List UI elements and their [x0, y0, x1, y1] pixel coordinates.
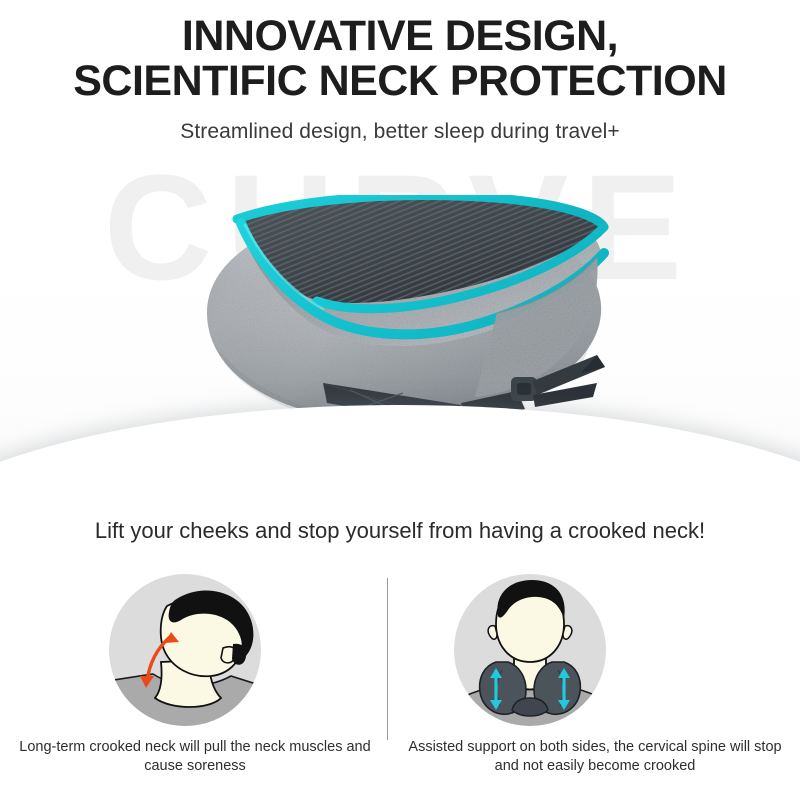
page-headline: INNOVATIVE DESIGN, SCIENTIFIC NECK PROTE… [0, 14, 800, 104]
section-tagline: Lift your cheeks and stop yourself from … [0, 518, 800, 544]
supported-head-illustration [450, 570, 610, 730]
section-arc-divider [0, 405, 800, 500]
comparison-panels: Long-term crooked neck will pull the nec… [0, 560, 800, 800]
page-subheadline: Streamlined design, better sleep during … [0, 120, 800, 144]
panel-caption: Long-term crooked neck will pull the nec… [0, 738, 390, 776]
panel-divider [387, 578, 388, 740]
hero-section: CURVE INNOVATIVE DESIGN, SCIENTIFIC NECK… [0, 0, 800, 500]
benefits-section: Lift your cheeks and stop yourself from … [0, 500, 800, 800]
headline-line-1: INNOVATIVE DESIGN, [182, 12, 618, 60]
panel-caption: Assisted support on both sides, the cerv… [400, 738, 790, 776]
tilted-head-illustration [105, 570, 265, 730]
headline-line-2: SCIENTIFIC NECK PROTECTION [0, 59, 800, 104]
